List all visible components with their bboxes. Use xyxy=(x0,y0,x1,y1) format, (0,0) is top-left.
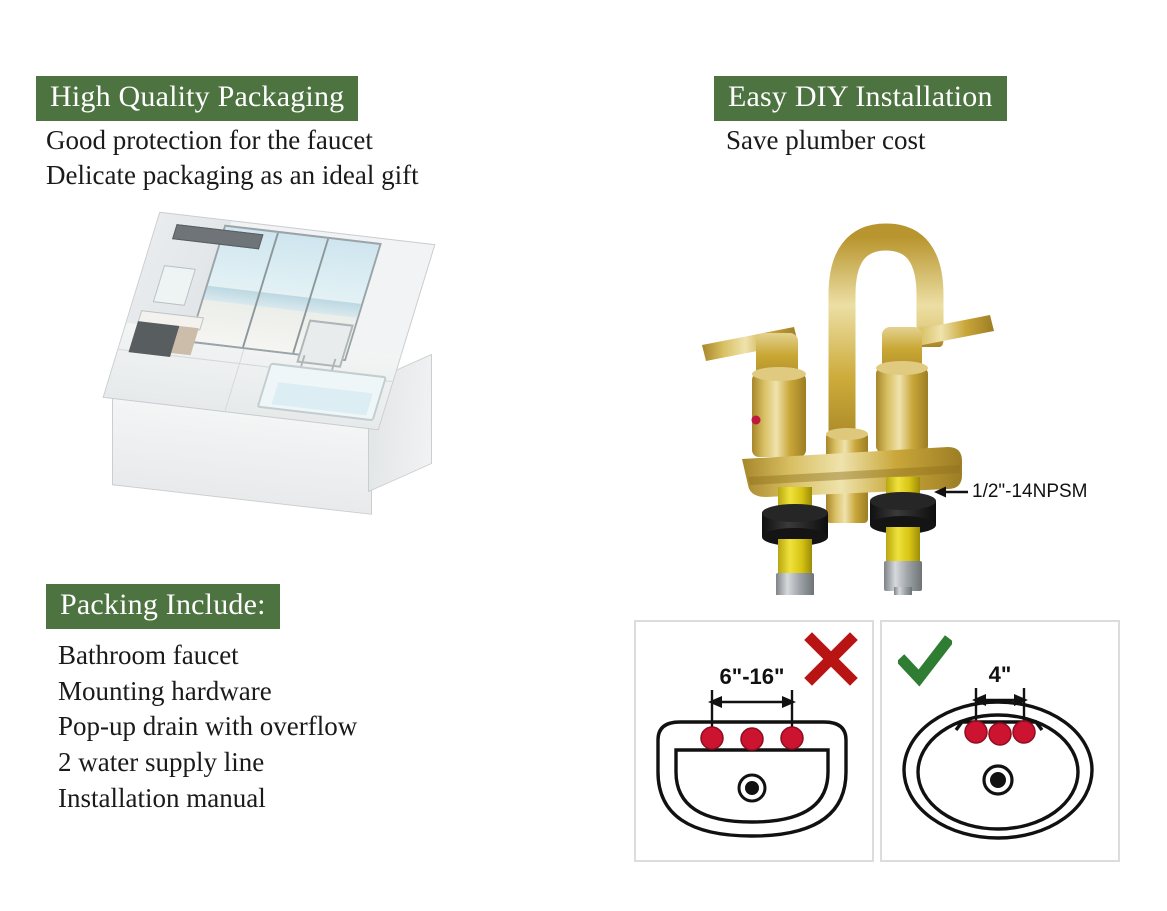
packing-list-item: Bathroom faucet xyxy=(58,638,357,674)
faucet-spout-base-top xyxy=(826,428,868,440)
scene-window xyxy=(189,224,382,361)
section-banner-installation: Easy DIY Installation xyxy=(714,76,1007,121)
faucet-product-photo xyxy=(690,175,1000,595)
check-icon xyxy=(898,634,952,688)
installation-copy-line-1: Save plumber cost xyxy=(726,123,925,158)
packing-list-item: Installation manual xyxy=(58,781,357,817)
cross-icon xyxy=(804,632,858,686)
faucet-hole xyxy=(1013,721,1035,743)
scene-bathtub-water xyxy=(271,382,372,415)
installation-copy: Save plumber cost xyxy=(726,123,925,158)
supply-hose xyxy=(894,587,912,595)
mounting-assembly-left xyxy=(762,487,828,595)
packing-list-item: Pop-up drain with overflow xyxy=(58,709,357,745)
mounting-assembly-right xyxy=(870,477,936,595)
packaging-box-photo xyxy=(112,222,442,522)
packing-list-item: 2 water supply line xyxy=(58,745,357,781)
dimension-arrow-left xyxy=(708,696,722,708)
box-top-face xyxy=(103,212,436,431)
faucet-hole xyxy=(781,727,803,749)
drain-center xyxy=(990,772,1006,788)
threaded-shank-lower xyxy=(778,539,812,573)
npsm-thread-callout: 1/2"-14NPSM xyxy=(934,481,1088,503)
section-banner-packing-include: Packing Include: xyxy=(46,584,280,629)
npsm-thread-label: 1/2"-14NPSM xyxy=(972,481,1088,503)
dimension-label: 6"-16" xyxy=(720,664,785,689)
faucet-handle-right xyxy=(876,315,994,453)
packaging-copy: Good protection for the faucet Delicate … xyxy=(46,123,419,193)
faucet-hole xyxy=(701,727,723,749)
section-banner-packaging: High Quality Packaging xyxy=(36,76,358,121)
faucet-hole xyxy=(965,721,987,743)
dimension-label: 4" xyxy=(989,662,1012,687)
packing-list-item: Mounting hardware xyxy=(58,674,357,710)
dimension-arrow-right xyxy=(782,696,796,708)
sink-diagram-incorrect: 6"-16" xyxy=(634,620,874,862)
faucet-handle-left xyxy=(702,327,806,457)
packaging-copy-line-2: Delicate packaging as an ideal gift xyxy=(46,158,419,193)
arrow-left-icon xyxy=(934,485,968,499)
infographic-canvas: High Quality Packaging Good protection f… xyxy=(0,0,1167,911)
faucet-hole xyxy=(741,728,763,750)
packaging-copy-line-1: Good protection for the faucet xyxy=(46,123,419,158)
threaded-shank-lower xyxy=(886,527,920,561)
hose-coupling-nut xyxy=(776,573,814,595)
sink-diagram-correct: 4" xyxy=(880,620,1120,862)
handle-index-dot xyxy=(752,416,761,425)
faucet-hole xyxy=(989,723,1011,745)
hose-coupling-nut xyxy=(884,561,922,591)
packing-include-list: Bathroom faucet Mounting hardware Pop-up… xyxy=(58,638,357,816)
drain-center xyxy=(745,781,759,795)
